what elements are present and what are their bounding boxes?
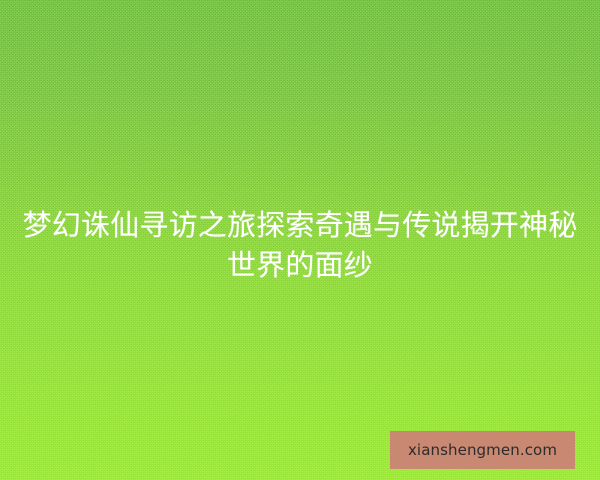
banner-canvas: 梦幻诛仙寻访之旅探索奇遇与传说揭开神秘世界的面纱 xianshengmen.co… (0, 0, 600, 480)
watermark-badge: xianshengmen.com (390, 431, 575, 469)
watermark-label: xianshengmen.com (408, 443, 557, 458)
background-gradient (0, 0, 600, 480)
